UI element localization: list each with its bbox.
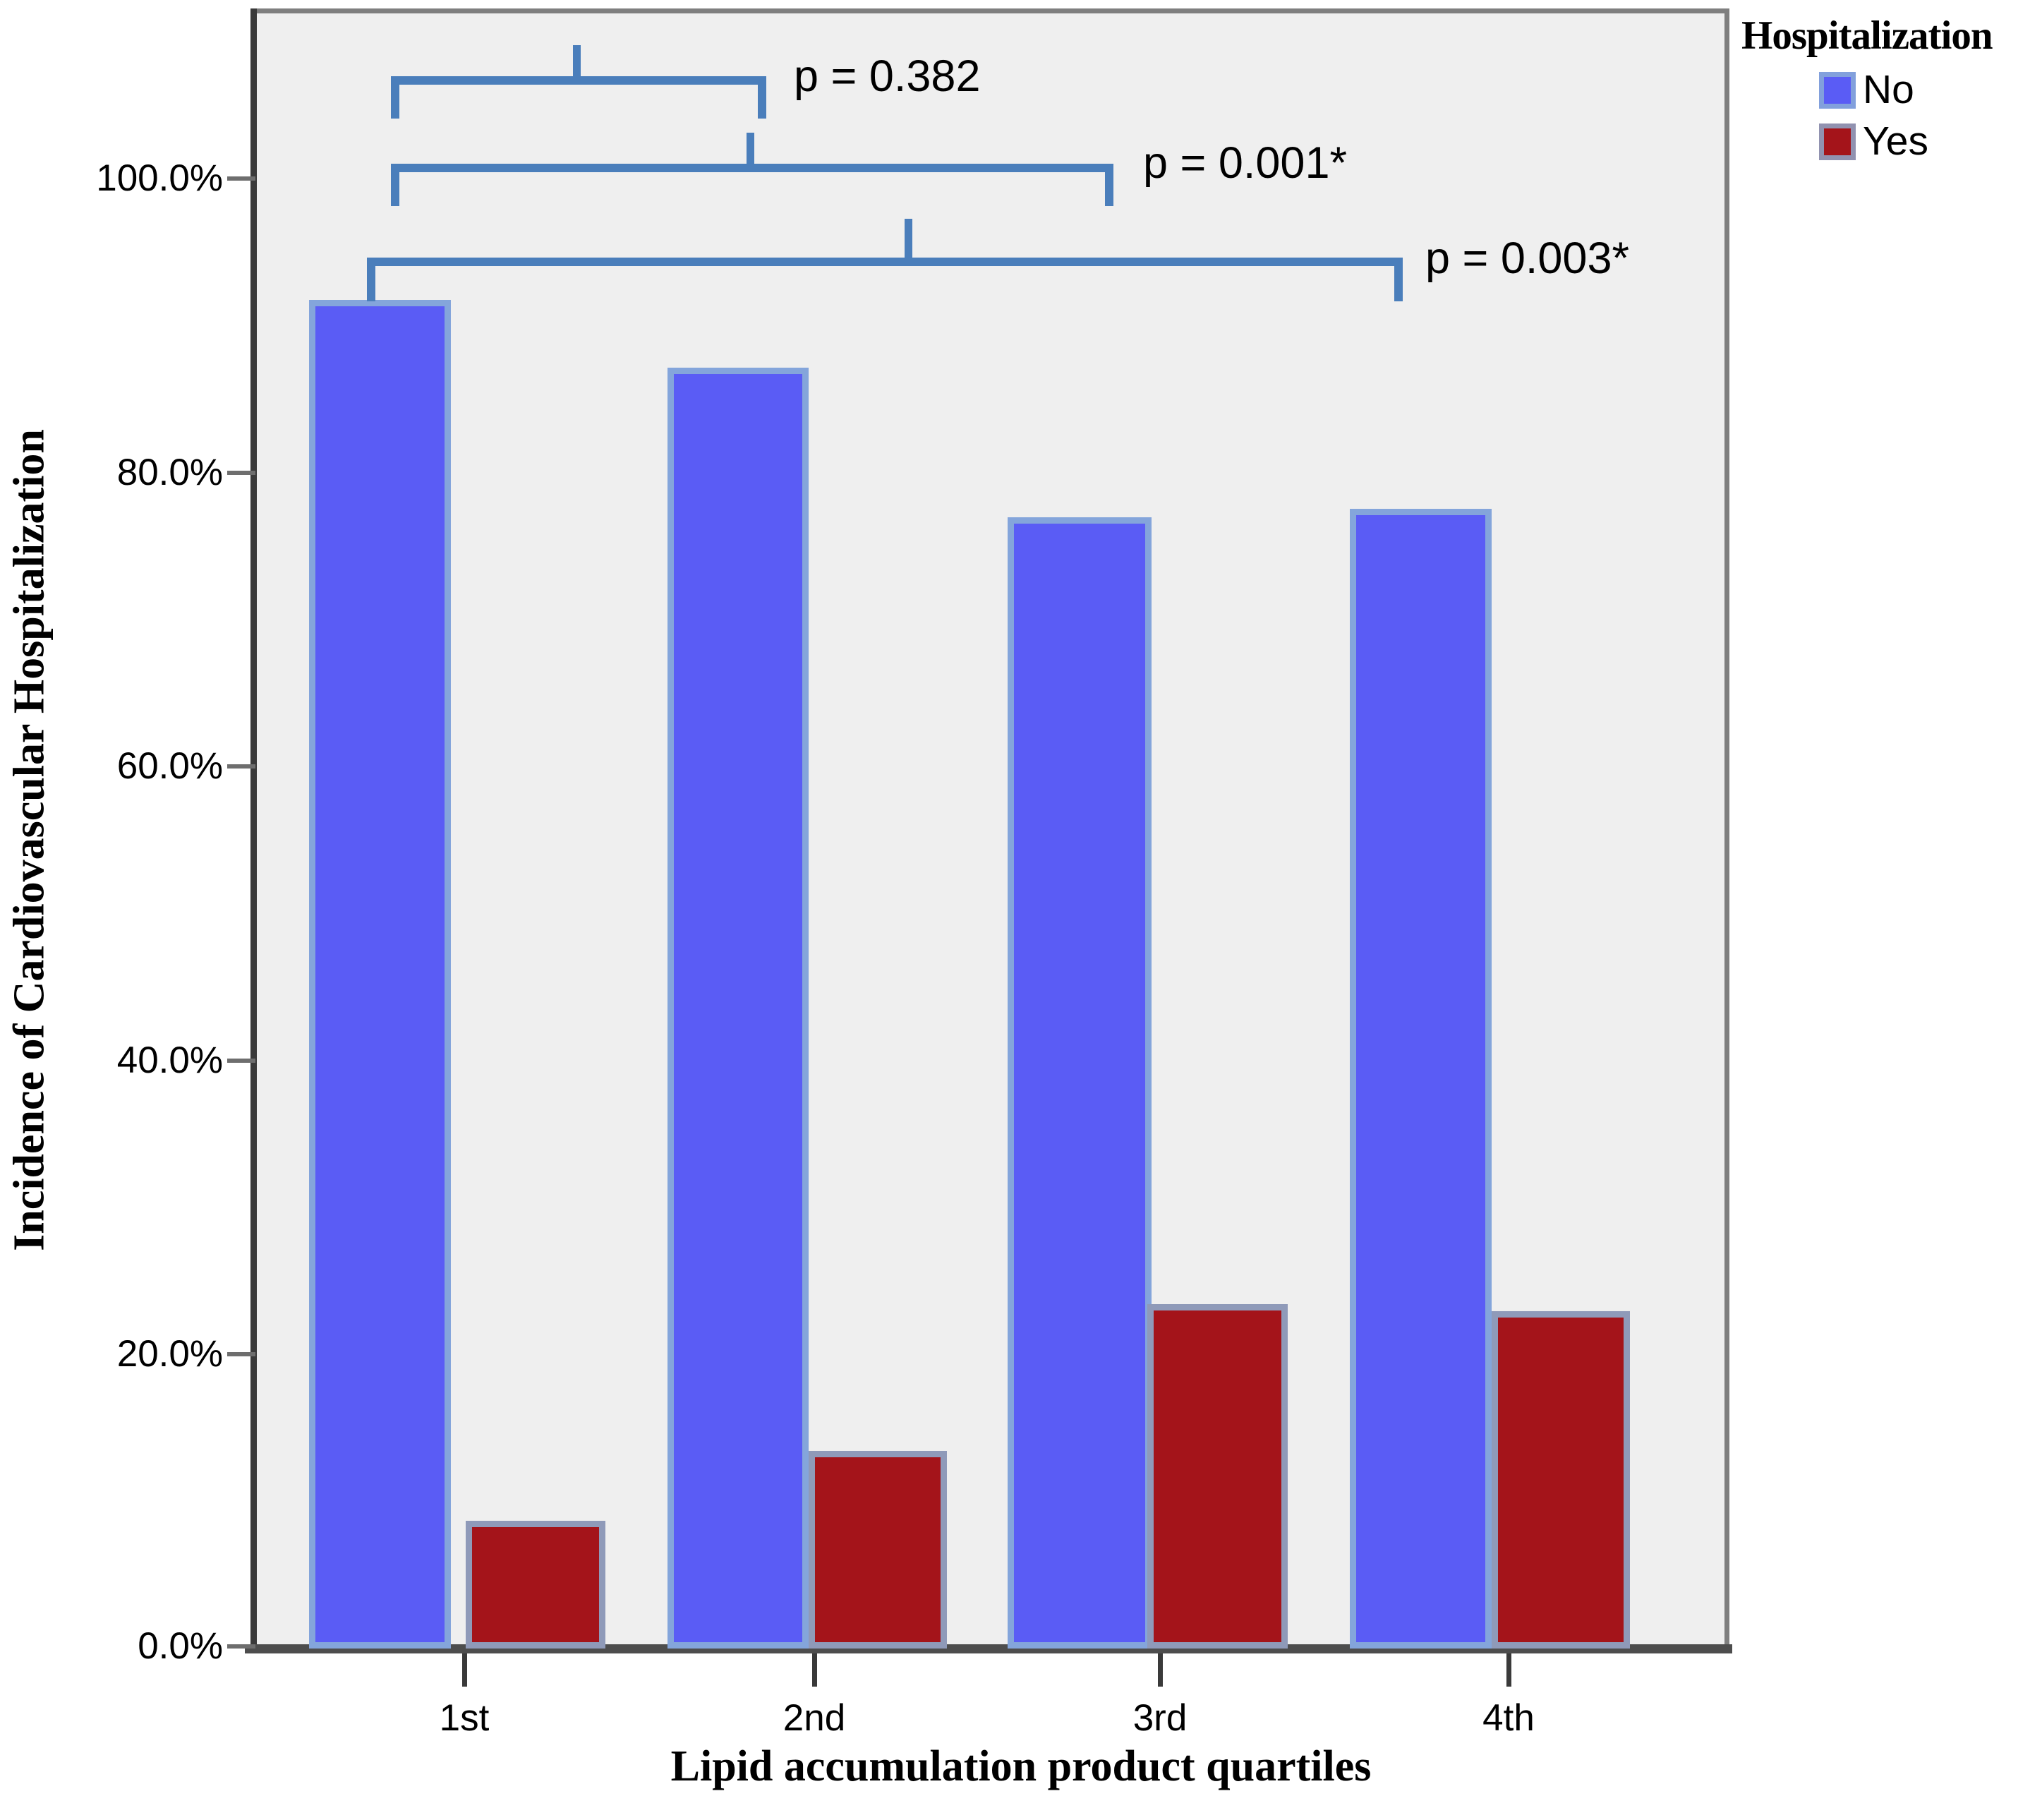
legend-item-yes[interactable]: Yes (1819, 121, 2038, 162)
legend-swatch-no (1819, 72, 1856, 109)
y-tick-mark-80 (227, 471, 255, 475)
legend-item-no[interactable]: No (1819, 70, 2038, 110)
bar-no-3rd[interactable] (1008, 517, 1152, 1649)
bar-no-4th[interactable] (1350, 509, 1492, 1649)
bar-no-2nd[interactable] (667, 368, 809, 1649)
bracket-right-arm (758, 76, 766, 119)
bar-yes-1st[interactable] (466, 1521, 605, 1649)
y-tick-mark-60 (227, 764, 255, 769)
bracket-notch (573, 45, 581, 79)
bracket-right-arm (1394, 258, 1403, 301)
bar-no-1st[interactable] (309, 300, 451, 1649)
x-tick-mark-2nd (812, 1653, 817, 1687)
legend-swatch-yes (1819, 123, 1856, 160)
bar-yes-2nd[interactable] (809, 1451, 947, 1649)
x-tick-label-1st: 1st (440, 1697, 490, 1740)
bracket-right-arm (1105, 164, 1113, 206)
bracket-left-arm (391, 164, 399, 206)
y-axis-title: Incidence of Cardiovascular Hospitalizat… (5, 64, 55, 1617)
legend-label-yes: Yes (1863, 121, 1928, 162)
y-tick-mark-40 (227, 1059, 255, 1063)
y-tick-label-100: 100.0% (96, 157, 223, 200)
bracket-notch (905, 219, 912, 261)
x-tick-label-2nd: 2nd (783, 1697, 845, 1740)
p-value-label-1st-4th: p = 0.003* (1425, 233, 1629, 284)
bracket-notch (747, 133, 754, 167)
y-tick-mark-100 (227, 176, 255, 181)
bar-yes-3rd[interactable] (1147, 1304, 1288, 1649)
p-value-label-1st-2nd: p = 0.382 (794, 51, 981, 102)
y-tick-label-60: 60.0% (117, 745, 223, 788)
x-tick-label-4th: 4th (1482, 1697, 1535, 1740)
y-axis-line (250, 8, 257, 1650)
bar-yes-4th[interactable] (1492, 1311, 1630, 1649)
legend-label-no: No (1863, 70, 1914, 110)
legend: Hospitalization No Yes (1741, 13, 2038, 162)
y-tick-label-40: 40.0% (117, 1039, 223, 1082)
bar-chart-figure: 100.0% 80.0% 60.0% 40.0% 20.0% 0.0% 1st … (0, 0, 2042, 1820)
x-tick-mark-3rd (1158, 1653, 1163, 1687)
y-tick-label-0: 0.0% (138, 1625, 223, 1668)
y-tick-mark-0 (227, 1644, 255, 1649)
bracket-bar (367, 258, 1403, 266)
bracket-left-arm (391, 76, 399, 119)
x-tick-label-3rd: 3rd (1133, 1697, 1188, 1740)
x-axis-title: Lipid accumulation product quartiles (0, 1742, 2042, 1792)
bracket-left-arm (367, 258, 375, 301)
y-tick-mark-20 (227, 1352, 255, 1356)
x-tick-mark-4th (1506, 1653, 1511, 1687)
p-value-label-1st-3rd: p = 0.001* (1143, 138, 1347, 188)
legend-title: Hospitalization (1741, 13, 2038, 59)
x-tick-mark-1st (462, 1653, 467, 1687)
y-tick-label-80: 80.0% (117, 451, 223, 494)
y-tick-label-20: 20.0% (117, 1332, 223, 1375)
